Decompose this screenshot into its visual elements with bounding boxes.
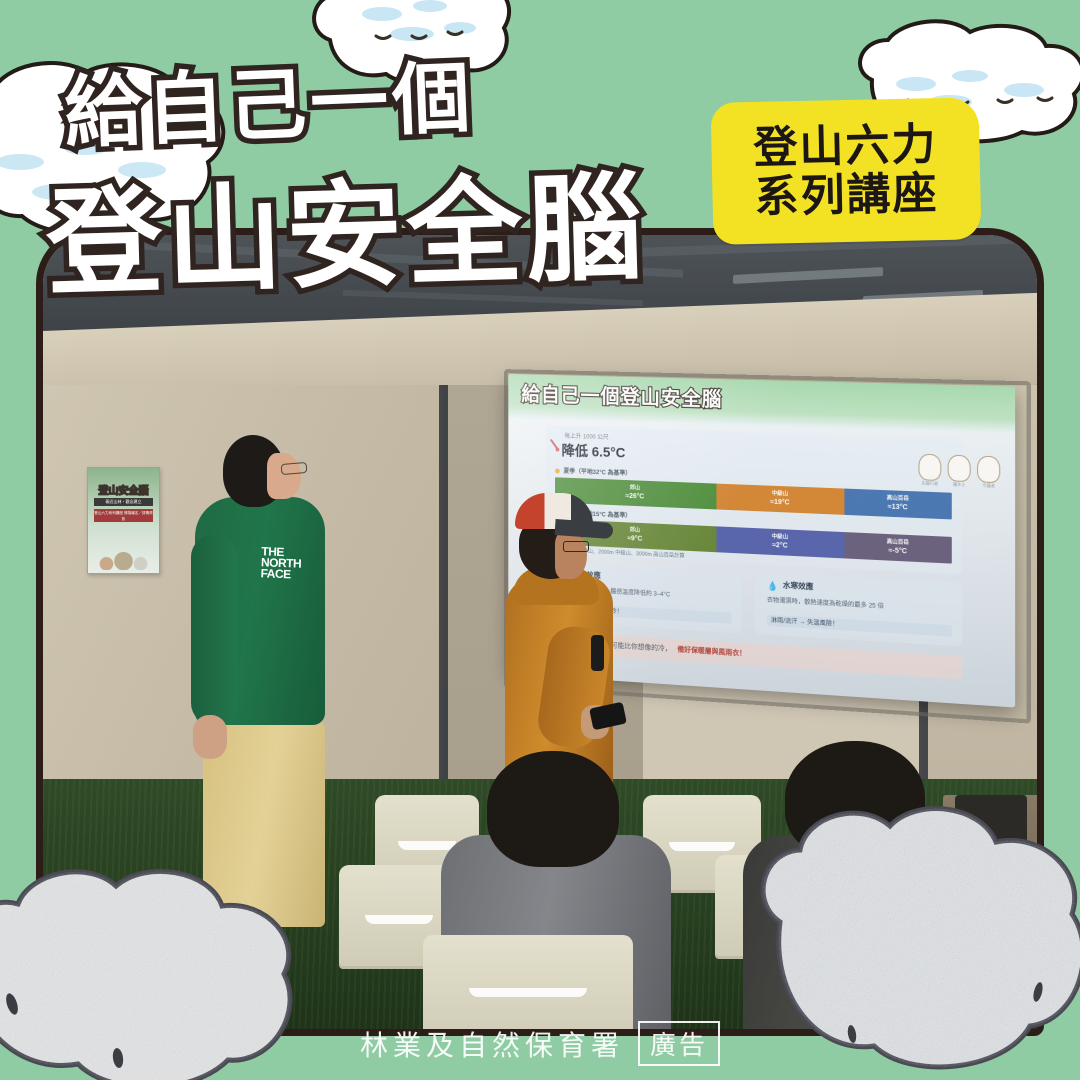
lecture-photo-card: 登山安全腦 親近山林・觀念建立 登山六力系列講座 掃描報名／詳情資訊 給自己一個… — [36, 228, 1044, 1036]
wall-poster-title: 登山安全腦 — [88, 482, 159, 497]
shoe — [973, 895, 1021, 917]
glasses-icon — [281, 462, 308, 475]
chair — [423, 935, 633, 1029]
series-badge-line-1: 登山六力 — [753, 120, 938, 173]
wall-poster: 登山安全腦 親近山林・觀念建立 登山六力系列講座 掃描報名／詳情資訊 — [87, 467, 160, 574]
storage-box — [955, 795, 1027, 845]
headline-line-1: 給自己一個 — [62, 29, 648, 163]
series-badge-line-2: 系列講座 — [754, 169, 939, 222]
footer-ad-tag: 廣告 — [638, 1021, 720, 1066]
poster-canvas: 登山安全腦 親近山林・觀念建立 登山六力系列講座 掃描報名／詳情資訊 給自己一個… — [0, 0, 1080, 1080]
cloud-top-center-icon — [300, 0, 530, 92]
wall-poster-subtitle: 親近山林・觀念建立 — [94, 498, 153, 506]
audience-member-head — [785, 741, 925, 859]
microphone-icon — [591, 635, 604, 671]
poster-bear-illustration — [88, 526, 159, 570]
footer-agency: 林業及自然保育署 — [360, 1024, 624, 1064]
series-badge: 登山六力 系列講座 — [711, 97, 982, 245]
audience-member-body — [743, 835, 963, 1029]
speaker-presenting-face — [555, 531, 587, 579]
speaker-standing-arm — [191, 535, 237, 725]
footer: 林業及自然保育署 廣告 — [0, 1021, 1080, 1066]
speaker-standing-hand — [193, 715, 227, 759]
audience-member-head — [487, 751, 619, 867]
shirt-brand-logo: THE NORTH FACE — [260, 546, 301, 580]
speaker-standing-face — [267, 453, 301, 499]
glasses-icon — [563, 541, 589, 552]
wall-poster-note: 登山六力系列講座 掃描報名／詳情資訊 — [94, 509, 153, 522]
handheld-device — [909, 823, 935, 837]
cloud-left-icon — [0, 52, 236, 252]
shoe — [979, 847, 1023, 869]
